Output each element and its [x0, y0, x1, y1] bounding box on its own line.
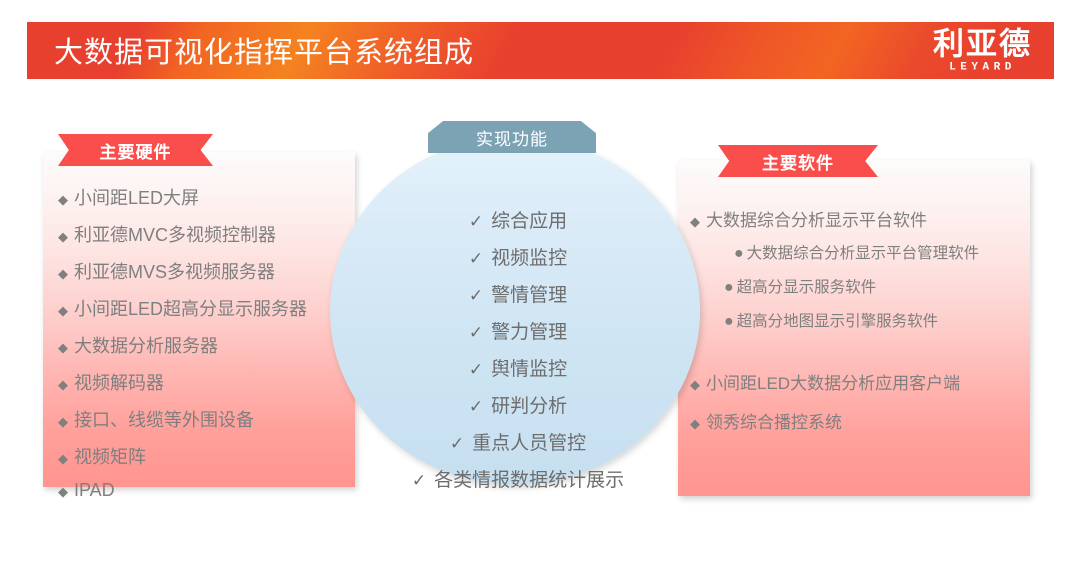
software-list: ◆ 大数据综合分析显示平台软件 ● 大数据综合分析显示平台管理软件 ● 超高分显…	[690, 206, 1040, 443]
logo-english-text: LEYARD	[933, 62, 1032, 73]
list-item-label: 利亚德MVC多视频控制器	[74, 221, 276, 247]
diamond-bullet-icon: ◆	[58, 415, 68, 428]
diamond-bullet-icon: ◆	[58, 304, 68, 317]
list-spacer	[690, 343, 1040, 369]
software-sub-list: ● 大数据综合分析显示平台管理软件 ● 超高分显示服务软件 ● 超高分地图显示引…	[690, 241, 1040, 331]
check-icon: ✓	[469, 323, 483, 342]
list-item-label: 利亚德MVS多视频服务器	[74, 258, 275, 284]
list-item: ✓综合应用	[398, 206, 638, 233]
check-icon: ✓	[469, 212, 483, 231]
check-icon: ✓	[469, 360, 483, 379]
list-item-label: 视频矩阵	[74, 443, 146, 469]
list-item: ◆ 小间距LED大屏	[58, 184, 358, 210]
check-icon: ✓	[469, 397, 483, 416]
dot-bullet-icon: ●	[724, 314, 734, 330]
list-item: ◆ 领秀综合播控系统	[690, 408, 1040, 433]
list-item-label: 超高分显示服务软件	[737, 275, 877, 297]
list-item: ✓研判分析	[398, 391, 638, 418]
diamond-bullet-icon: ◆	[690, 378, 700, 391]
diamond-bullet-icon: ◆	[690, 215, 700, 228]
check-icon: ✓	[450, 434, 464, 453]
software-panel-tag: 主要软件	[718, 145, 878, 177]
check-icon: ✓	[469, 249, 483, 268]
diamond-bullet-icon: ◆	[690, 417, 700, 430]
list-item-label: 领秀综合播控系统	[706, 408, 842, 433]
diamond-bullet-icon: ◆	[58, 230, 68, 243]
list-item: ◆ 视频矩阵	[58, 443, 358, 469]
list-item-label: 小间距LED大屏	[74, 184, 199, 210]
list-item: ◆ 小间距LED大数据分析应用客户端	[690, 369, 1040, 394]
diamond-bullet-icon: ◆	[58, 193, 68, 206]
list-item: ✓舆情监控	[398, 354, 638, 381]
list-item: ● 超高分地图显示引擎服务软件	[724, 309, 1040, 331]
list-item: ◆ 视频解码器	[58, 369, 358, 395]
diamond-bullet-icon: ◆	[58, 452, 68, 465]
list-item: ✓重点人员管控	[398, 428, 638, 455]
list-item-label: 舆情监控	[491, 359, 567, 380]
list-item-label: 小间距LED大数据分析应用客户端	[706, 369, 960, 394]
list-item: ● 大数据综合分析显示平台管理软件	[724, 241, 1040, 263]
list-item-label: 重点人员管控	[472, 433, 586, 454]
list-item: ◆ 利亚德MVC多视频控制器	[58, 221, 358, 247]
list-item: ◆ 利亚德MVS多视频服务器	[58, 258, 358, 284]
list-item-label: 大数据分析服务器	[74, 332, 218, 358]
list-item-label: 大数据综合分析显示平台管理软件	[747, 241, 980, 263]
list-item-label: 视频解码器	[74, 369, 164, 395]
functions-list: ✓综合应用 ✓视频监控 ✓警情管理 ✓警力管理 ✓舆情监控 ✓研判分析 ✓重点人…	[398, 206, 638, 502]
list-item: ◆ 大数据综合分析显示平台软件	[690, 206, 1040, 231]
list-item: ◆ 大数据分析服务器	[58, 332, 358, 358]
check-icon: ✓	[469, 286, 483, 305]
list-item-label: 接口、线缆等外围设备	[74, 406, 254, 432]
list-item-label: 视频监控	[491, 248, 567, 269]
dot-bullet-icon: ●	[724, 280, 734, 296]
list-item: ◆ IPAD	[58, 480, 358, 501]
list-item: ✓各类情报数据统计展示	[398, 465, 638, 492]
list-item-label: 警力管理	[491, 322, 567, 343]
check-icon: ✓	[412, 471, 426, 490]
header-banner: 大数据可视化指挥平台系统组成 利亚德 LEYARD	[27, 22, 1054, 79]
diamond-bullet-icon: ◆	[58, 485, 68, 498]
diamond-bullet-icon: ◆	[58, 341, 68, 354]
list-item: ◆ 接口、线缆等外围设备	[58, 406, 358, 432]
leyard-logo: 利亚德 LEYARD	[933, 28, 1032, 73]
list-item: ◆ 小间距LED超高分显示服务器	[58, 295, 358, 321]
list-item-label: 超高分地图显示引擎服务软件	[737, 309, 939, 331]
list-item-label: IPAD	[74, 480, 115, 501]
list-item-label: 综合应用	[491, 211, 567, 232]
diamond-bullet-icon: ◆	[58, 378, 68, 391]
functions-tag-label: 实现功能	[476, 125, 548, 150]
list-item-label: 大数据综合分析显示平台软件	[706, 206, 927, 231]
hardware-panel-tag-label: 主要硬件	[100, 138, 172, 163]
list-item-label: 小间距LED超高分显示服务器	[74, 295, 307, 321]
dot-bullet-icon: ●	[734, 246, 744, 262]
logo-chinese-text: 利亚德	[933, 28, 1032, 59]
list-item: ✓警力管理	[398, 317, 638, 344]
diamond-bullet-icon: ◆	[58, 267, 68, 280]
list-item: ● 超高分显示服务软件	[724, 275, 1040, 297]
list-item-label: 警情管理	[491, 285, 567, 306]
list-item: ✓警情管理	[398, 280, 638, 307]
hardware-panel-tag: 主要硬件	[58, 134, 213, 166]
hardware-list: ◆ 小间距LED大屏 ◆ 利亚德MVC多视频控制器 ◆ 利亚德MVS多视频服务器…	[58, 184, 358, 512]
list-item: ✓视频监控	[398, 243, 638, 270]
list-item-label: 研判分析	[491, 396, 567, 417]
list-item-label: 各类情报数据统计展示	[434, 470, 624, 491]
page-title: 大数据可视化指挥平台系统组成	[54, 29, 474, 71]
software-panel-tag-label: 主要软件	[762, 149, 834, 174]
functions-tag: 实现功能	[428, 121, 596, 153]
